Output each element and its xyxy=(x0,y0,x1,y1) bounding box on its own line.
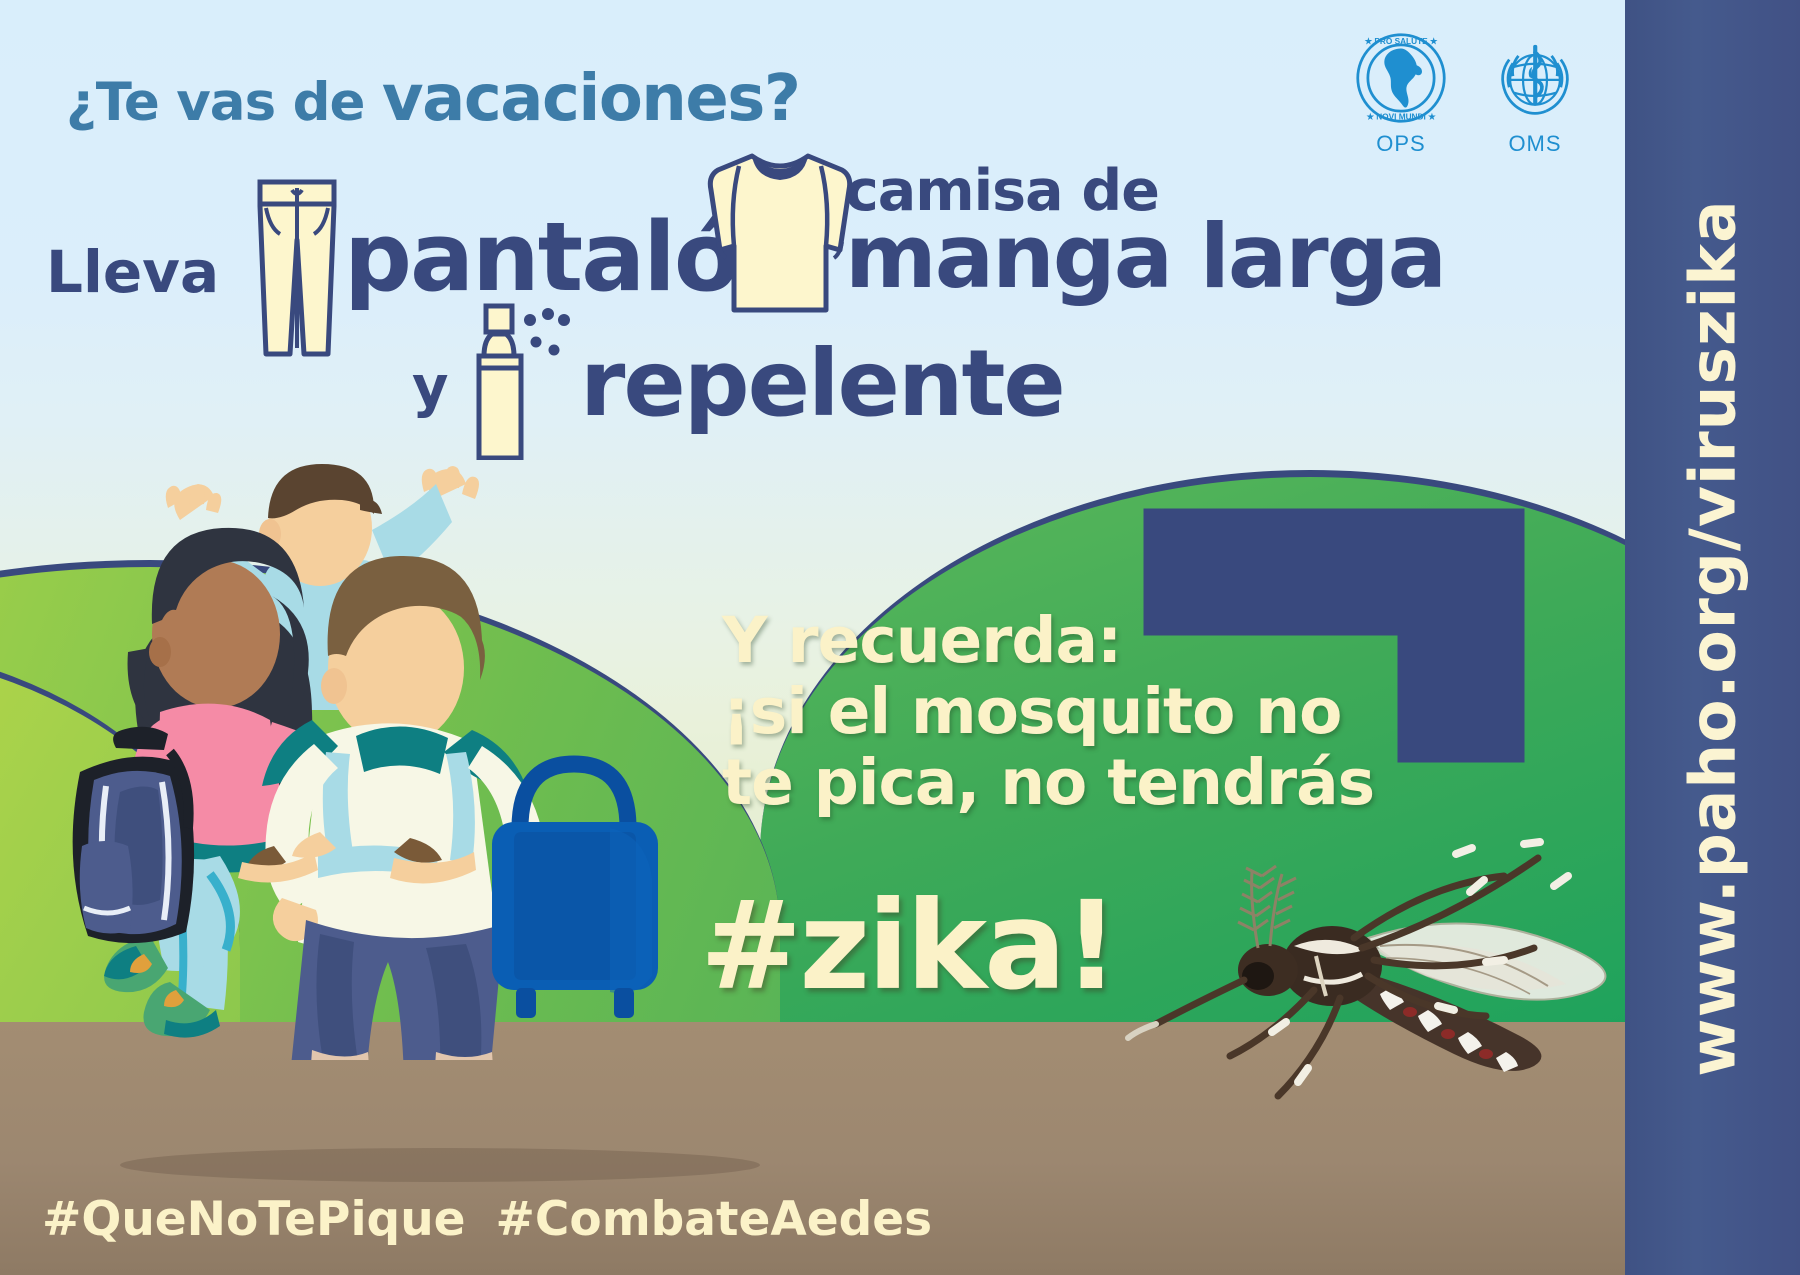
message-line-3: te pica, no tendrás xyxy=(722,747,1422,818)
oms-logo: OMS xyxy=(1489,32,1581,157)
reminder-message: Y recuerda: ¡si el mosquito no te pica, … xyxy=(722,605,1422,819)
url-sidebar: www.paho.org/viruszika xyxy=(1625,0,1800,1275)
ops-caption: OPS xyxy=(1355,131,1447,157)
hashtag-combate-aedes: #CombateAedes xyxy=(496,1192,933,1247)
ground-shadow xyxy=(120,1148,760,1182)
ops-logo: ★ PRO SALUTE ★ ★ NOVI MUNDI ★ OPS xyxy=(1355,32,1447,157)
zika-prevention-poster: ¿Te vas de vacaciones? ★ PRO SALUTE ★ ★ … xyxy=(0,0,1800,1275)
paho-globe-icon: ★ PRO SALUTE ★ ★ NOVI MUNDI ★ xyxy=(1355,32,1447,124)
lleva-label: Lleva xyxy=(46,238,219,306)
svg-text:★ NOVI MUNDI ★: ★ NOVI MUNDI ★ xyxy=(1365,112,1436,121)
organization-logos: ★ PRO SALUTE ★ ★ NOVI MUNDI ★ OPS xyxy=(1355,32,1581,157)
hashtag-que-no-te-pique: #QueNoTePique xyxy=(42,1192,466,1247)
message-line-1: Y recuerda: xyxy=(722,605,1422,676)
message-line-2: ¡si el mosquito no xyxy=(722,676,1422,747)
advice-shirt-text: camisa de manga larga xyxy=(845,165,1445,298)
suitcase-icon xyxy=(470,710,680,1030)
oms-caption: OMS xyxy=(1489,131,1581,157)
headline-emphasis: vacaciones? xyxy=(382,62,800,136)
long-sleeve-shirt-icon xyxy=(706,142,854,318)
aedes-mosquito-icon xyxy=(1118,820,1678,1150)
campaign-hashtags: #QueNoTePique#CombateAedes xyxy=(42,1192,962,1247)
svg-text:★ PRO SALUTE ★: ★ PRO SALUTE ★ xyxy=(1364,37,1438,46)
website-url[interactable]: www.paho.org/viruszika xyxy=(1676,199,1749,1076)
page-title: ¿Te vas de vacaciones? xyxy=(66,62,799,136)
who-emblem-icon xyxy=(1489,32,1581,124)
headline-plain: ¿Te vas de xyxy=(66,72,382,133)
zika-hashtag: #zika! xyxy=(700,875,1116,1017)
camisa-big-label: manga larga xyxy=(845,217,1445,298)
pants-icon xyxy=(242,168,352,358)
backpack-icon xyxy=(73,727,194,943)
